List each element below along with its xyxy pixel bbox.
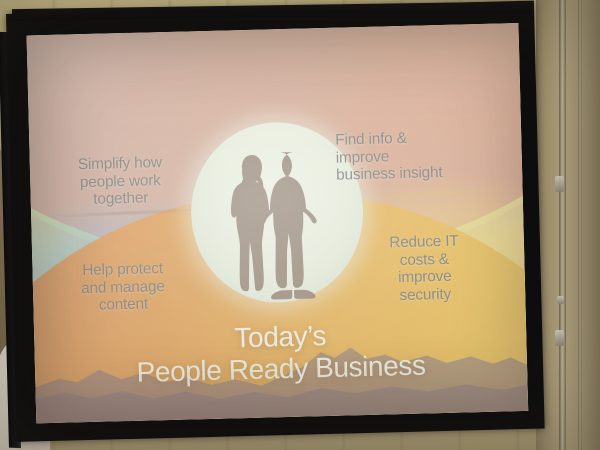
door-frame-rail	[559, 0, 566, 450]
presentation-slide: Simplify how people work together Help p…	[27, 23, 529, 423]
bullet-reduce-it: Reduce IT costs & improve security	[344, 231, 506, 305]
door-hinge	[557, 296, 564, 304]
bullet-protect: Help protect and manage content	[38, 259, 207, 316]
bullet-simplify: Simplify how people work together	[36, 153, 205, 210]
door-hinge	[555, 176, 564, 192]
screen-frame: Simplify how people work together Help p…	[6, 1, 545, 442]
photograph-of-projector-screen: Simplify how people work together Help p…	[0, 0, 600, 450]
slide-headline: Today’s People Ready Business	[34, 315, 527, 392]
projector-screen: Simplify how people work together Help p…	[6, 0, 553, 443]
door-hinge	[555, 330, 564, 346]
bullet-find-info: Find info & improve business insight	[335, 127, 516, 184]
door-frame-rail-secondary	[578, 0, 582, 450]
screen-surface: Simplify how people work together Help p…	[27, 23, 529, 423]
